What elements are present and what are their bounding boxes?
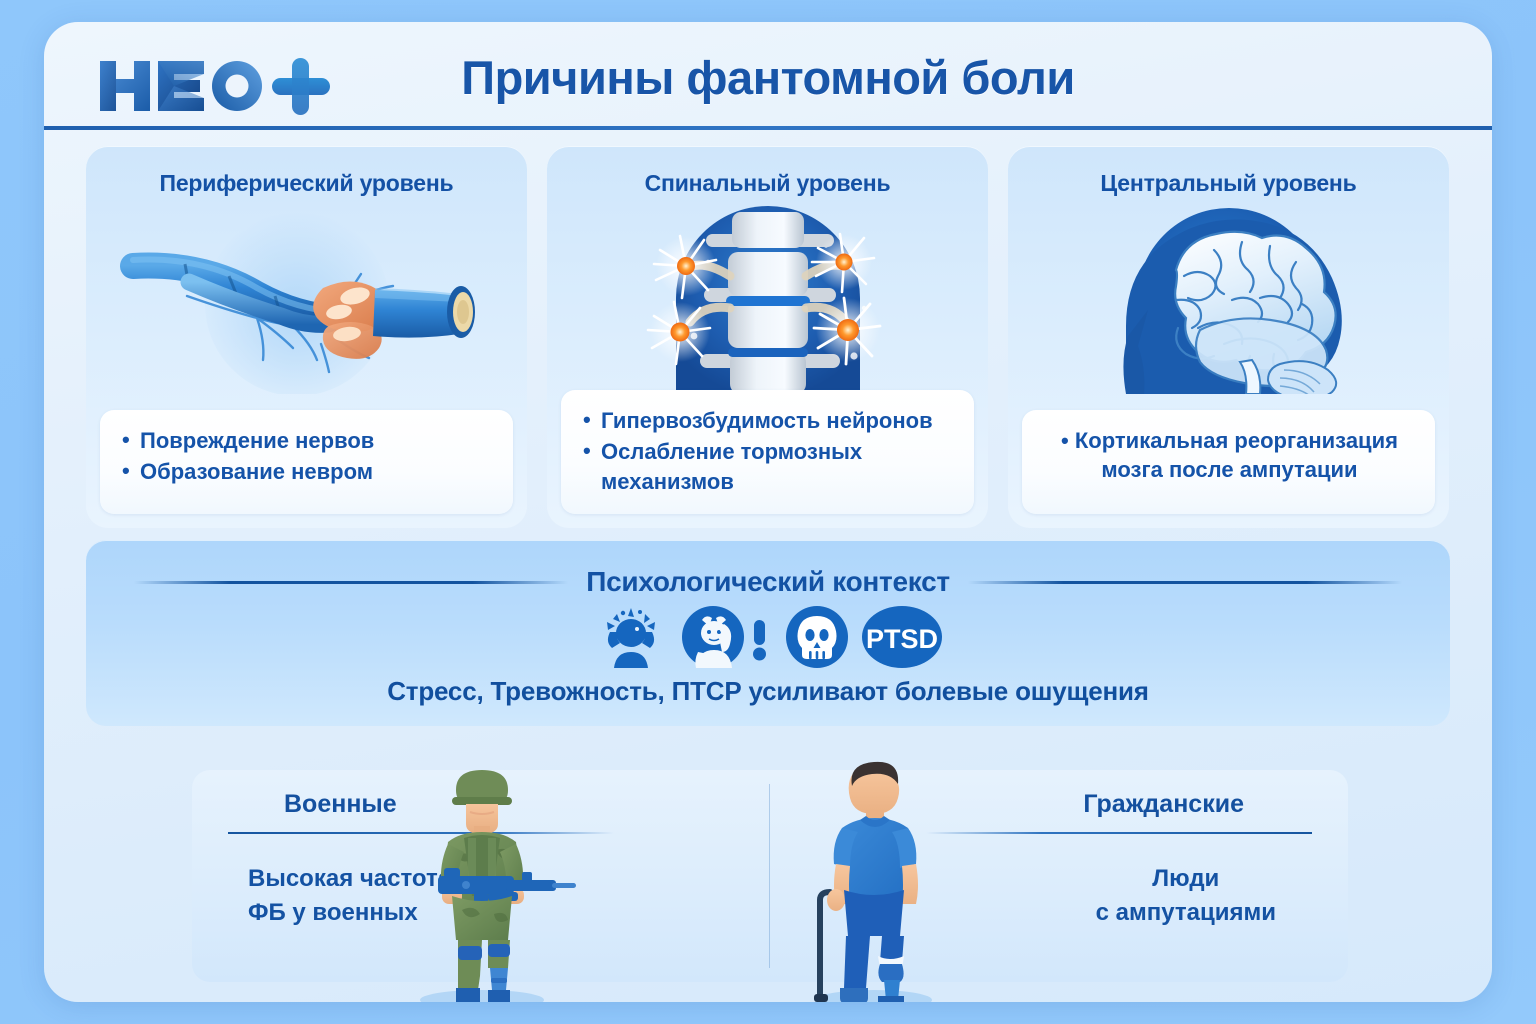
list-item: Ослабление тормозных механизмов	[581, 437, 956, 496]
level-card-peripheral[interactable]: Периферический уровень	[86, 146, 527, 528]
group-divider	[228, 832, 614, 834]
page-title: Причины фантомной боли	[44, 50, 1492, 105]
level-items-peripheral: Повреждение нервов Образование невром	[100, 410, 513, 514]
level-card-spinal[interactable]: Спинальный уровень	[547, 146, 988, 528]
group-description-line: Высокая частота	[248, 862, 451, 896]
ptsd-badge-label: PTSD	[866, 624, 938, 654]
psych-heading-row: Психологический контекст	[86, 540, 1450, 598]
spinal-cord-neurons-illustration	[547, 204, 988, 394]
group-label: Военные	[284, 790, 397, 819]
group-card-military[interactable]: Военные Высокая частота ФБ у военных	[192, 770, 770, 982]
psychological-context-section: Психологический контекст	[86, 540, 1450, 726]
psych-rule-right	[968, 581, 1402, 584]
skull-icon	[786, 606, 848, 668]
group-label: Гражданские	[1083, 790, 1244, 819]
group-description-line: ФБ у военных	[248, 896, 451, 930]
group-description-line: с ампутациями	[1096, 896, 1276, 930]
level-title: Центральный уровень	[1008, 146, 1449, 197]
brain-head-profile-illustration	[1008, 204, 1449, 394]
stressed-person-icon	[594, 606, 668, 668]
list-item: Гипервозбудимость нейронов	[581, 406, 956, 435]
poster-header: НЕО+ Причины фантомной боли	[44, 22, 1492, 126]
level-title: Спинальный уровень	[547, 146, 988, 197]
levels-row: Периферический уровень	[86, 146, 1450, 528]
group-description: Высокая частота ФБ у военных	[248, 862, 451, 930]
civilian-with-cane-and-prosthetic-leg-figure	[790, 760, 960, 1002]
level-card-central[interactable]: Центральный уровень	[1008, 146, 1449, 528]
level-items-central: Кортикальная реорганизация мозга после а…	[1022, 410, 1435, 514]
psych-title: Психологический контекст	[586, 566, 950, 598]
list-item: Повреждение нервов	[120, 426, 495, 455]
list-item: Кортикальная реорганизация мозга после а…	[1042, 426, 1417, 485]
level-title: Периферический уровень	[86, 146, 527, 197]
damaged-nerve-fiber-illustration	[86, 204, 527, 394]
psych-icon-row: PTSD	[86, 606, 1450, 668]
group-card-civilian[interactable]: Гражданские Люди с ампутациями	[770, 770, 1348, 982]
psych-rule-left	[134, 581, 568, 584]
psych-caption: Стресс, Тревожность, ПТСР усиливают боле…	[86, 676, 1450, 707]
infographic-poster: НЕО+ Причины фантомной боли Периферическ…	[44, 22, 1492, 1002]
ptsd-badge-icon: PTSD	[862, 606, 942, 668]
group-description: Люди с ампутациями	[1096, 862, 1276, 930]
list-item: Образование невром	[120, 457, 495, 486]
group-description-line: Люди	[1096, 862, 1276, 896]
population-groups-row: Военные Высокая частота ФБ у военных	[192, 770, 1348, 982]
level-items-spinal: Гипервозбудимость нейронов Ослабление то…	[561, 390, 974, 514]
anxious-person-exclamation-icon	[682, 606, 772, 668]
group-divider	[926, 832, 1312, 834]
header-divider	[44, 126, 1492, 130]
